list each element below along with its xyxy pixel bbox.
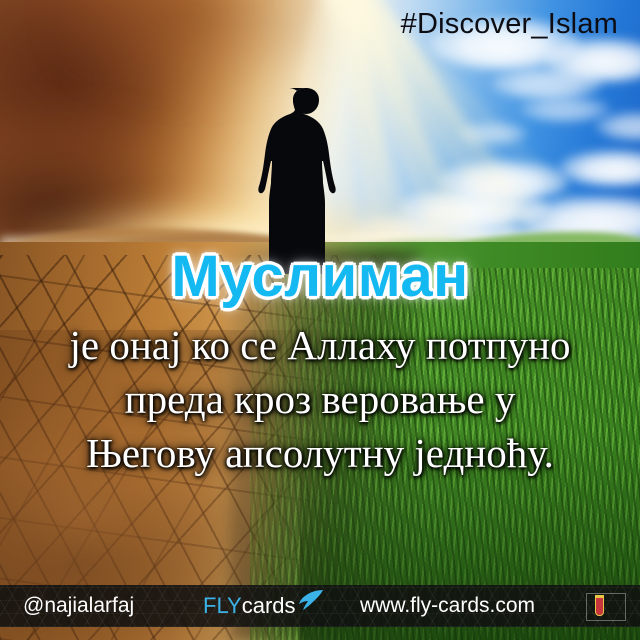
quote-line: преда кроз веровање у: [0, 372, 640, 426]
serbia-flag-icon: [586, 593, 626, 621]
discover-islam-card: #Discover_Islam Муслиман је онај ко се А…: [0, 0, 640, 640]
brand-suffix: cards: [242, 593, 296, 619]
hashtag-label: #Discover_Islam: [401, 8, 618, 41]
bird-icon: [298, 589, 324, 617]
brand-prefix: FLY: [203, 593, 242, 619]
website-url[interactable]: www.fly-cards.com: [360, 594, 535, 618]
quote-line: је онај ко се Аллаху потпуно: [0, 318, 640, 372]
quote-line: Његову апсолутну једноћу.: [0, 426, 640, 480]
flycards-logo[interactable]: FLYcards: [203, 593, 324, 619]
social-handle[interactable]: @najialarfaj: [23, 594, 134, 618]
quote-text: је онај ко се Аллаху потпуно преда кроз …: [0, 318, 640, 480]
footer-bar: @najialarfaj FLYcards www.fly-cards.com: [0, 585, 640, 627]
page-title: Муслиман: [0, 248, 640, 306]
